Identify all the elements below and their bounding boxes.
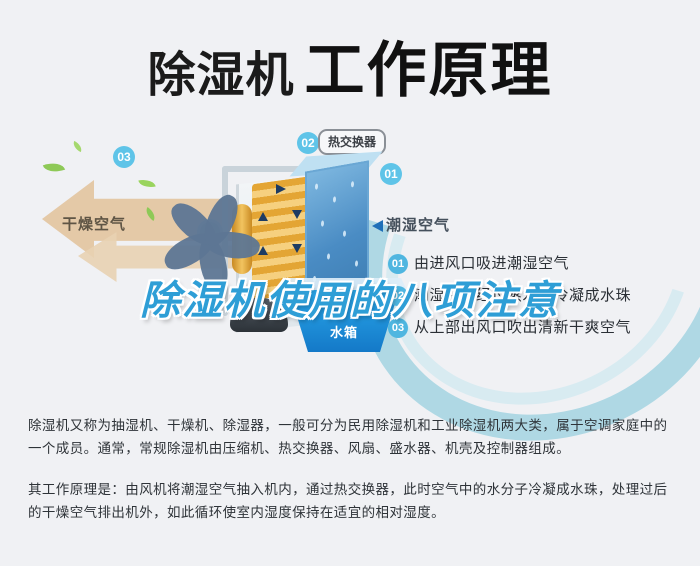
condensation-drop-icon bbox=[351, 181, 354, 188]
condensation-drop-icon bbox=[321, 220, 324, 227]
leaf-icon bbox=[43, 159, 65, 176]
flow-arrow-down-icon bbox=[292, 244, 302, 253]
condensation-drop-icon bbox=[315, 183, 318, 190]
condensation-drop-icon bbox=[343, 230, 346, 237]
body-paragraph-2: 其工作原理是：由风机将潮湿空气抽入机内，通过热交换器，此时空气中的水分子冷凝成水… bbox=[28, 478, 676, 524]
article-body: 除湿机又称为抽湿机、干燥机、除湿器，一般可分为民用除湿机和工业除湿机两大类，属于… bbox=[28, 414, 676, 524]
illustration-badge-03: 03 bbox=[113, 146, 135, 168]
leaf-icon bbox=[71, 141, 84, 152]
infographic-page: 除湿机工作原理 干燥空气 潮湿空气 03 02 01 热交换器 bbox=[0, 0, 700, 566]
page-title-part1: 除湿机 bbox=[147, 49, 294, 102]
flow-arrow-up-icon bbox=[258, 212, 268, 221]
leaf-icon bbox=[138, 178, 155, 190]
intake-arrow-icon bbox=[372, 220, 383, 232]
flow-arrow-right-icon bbox=[276, 184, 286, 194]
illustration-badge-01: 01 bbox=[380, 163, 402, 185]
body-paragraph-1: 除湿机又称为抽湿机、干燥机、除湿器，一般可分为民用除湿机和工业除湿机两大类，属于… bbox=[28, 414, 676, 460]
humid-air-label: 潮湿空气 bbox=[386, 214, 450, 235]
dry-air-label: 干燥空气 bbox=[62, 213, 126, 234]
condensation-drop-icon bbox=[355, 260, 358, 267]
overlay-headline: 除湿机使用的八项注意 bbox=[0, 268, 700, 326]
condensation-drop-icon bbox=[327, 253, 330, 260]
condensation-drop-icon bbox=[333, 196, 336, 203]
flow-arrow-down-icon bbox=[292, 210, 302, 219]
illustration-badge-02: 02 bbox=[297, 132, 319, 154]
